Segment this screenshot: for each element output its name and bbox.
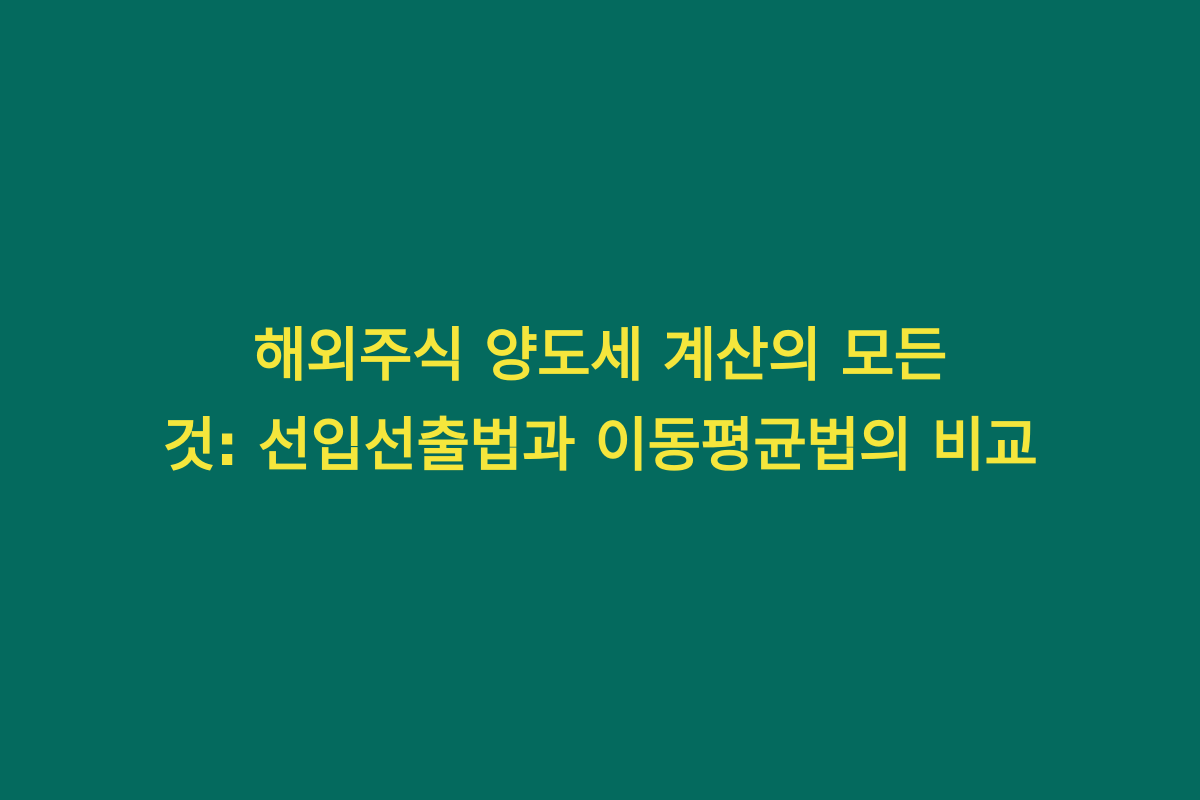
banner-title: 해외주식 양도세 계산의 모든 것: 선입선출법과 이동평균법의 비교 <box>30 310 1170 491</box>
title-block: 해외주식 양도세 계산의 모든 것: 선입선출법과 이동평균법의 비교 <box>20 310 1180 491</box>
banner-canvas: 해외주식 양도세 계산의 모든 것: 선입선출법과 이동평균법의 비교 <box>0 0 1200 800</box>
